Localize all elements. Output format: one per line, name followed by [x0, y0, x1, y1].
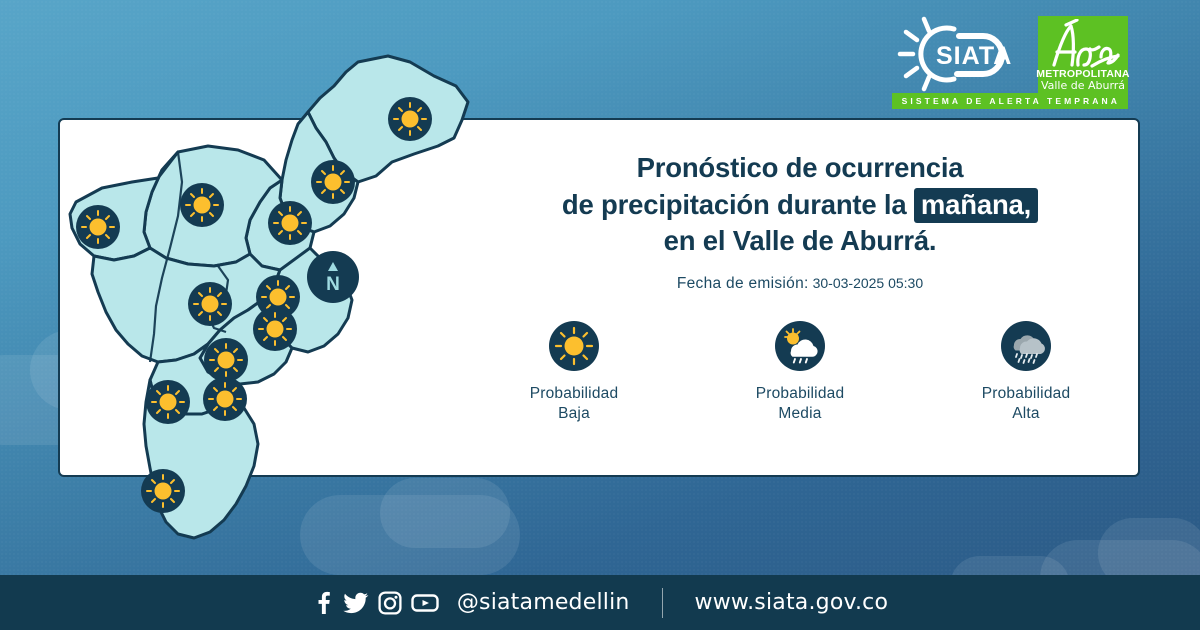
header-logos: SIATA METROPOLITANA Valle: [896, 16, 1128, 98]
svg-text:SIATA: SIATA: [936, 42, 1012, 70]
legend-item-alta: Probabilidad Alta: [956, 321, 1096, 425]
sun-rain-cloud-icon: [775, 321, 825, 371]
legend-label-line2: Media: [778, 405, 821, 422]
legend-label-alta: Probabilidad Alta: [982, 384, 1071, 425]
emission-value: 30-03-2025 05:30: [813, 275, 924, 291]
legend-item-media: Probabilidad Media: [730, 321, 870, 425]
youtube-icon[interactable]: [411, 591, 439, 615]
title-line-1: Pronóstico de ocurrencia: [637, 152, 964, 183]
decorative-cloud: [380, 478, 510, 548]
forecast-content: Pronóstico de ocurrencia de precipitació…: [470, 150, 1130, 425]
social-handle[interactable]: @siatamedellin: [457, 590, 630, 615]
legend-label-line2: Baja: [558, 405, 590, 422]
footer-content: @siatamedellin www.siata.gov.co: [312, 588, 888, 618]
facebook-icon[interactable]: [312, 591, 334, 615]
legend-label-media: Probabilidad Media: [756, 384, 845, 425]
area-logo-line2: Valle de Aburrá: [1041, 80, 1125, 93]
sun-icon: [549, 321, 599, 371]
twitter-icon[interactable]: [343, 591, 369, 615]
area-metropolitana-logo: METROPOLITANA Valle de Aburrá: [1038, 16, 1128, 98]
siata-logo: SIATA: [896, 16, 1026, 92]
legend-label-baja: Probabilidad Baja: [530, 384, 619, 425]
legend-label-line2: Alta: [1012, 405, 1040, 422]
rain-cloud-icon: [1001, 321, 1051, 371]
footer-bar: @siatamedellin www.siata.gov.co: [0, 575, 1200, 630]
emission-label: Fecha de emisión:: [677, 275, 809, 292]
legend-label-line1: Probabilidad: [530, 385, 619, 402]
website-url[interactable]: www.siata.gov.co: [695, 590, 889, 615]
title-line-2-prefix: de precipitación durante la: [562, 189, 907, 220]
instagram-icon[interactable]: [378, 591, 402, 615]
area-script-wordmark: [1038, 18, 1128, 72]
infographic-root: SIATA METROPOLITANA Valle: [0, 0, 1200, 630]
title-line-3: en el Valle de Aburrá.: [664, 225, 937, 256]
footer-divider: [662, 588, 663, 618]
legend-label-line1: Probabilidad: [756, 385, 845, 402]
social-links: [312, 591, 439, 615]
title-highlight-period: mañana,: [914, 188, 1038, 223]
legend-item-baja: Probabilidad Baja: [504, 321, 644, 425]
emission-date: Fecha de emisión:30-03-2025 05:30: [470, 275, 1130, 293]
legend-label-line1: Probabilidad: [982, 385, 1071, 402]
probability-legend: Probabilidad Baja: [470, 321, 1130, 425]
siata-tagline-strip: SISTEMA DE ALERTA TEMPRANA: [892, 93, 1128, 109]
page-title: Pronóstico de ocurrencia de precipitació…: [470, 150, 1130, 260]
